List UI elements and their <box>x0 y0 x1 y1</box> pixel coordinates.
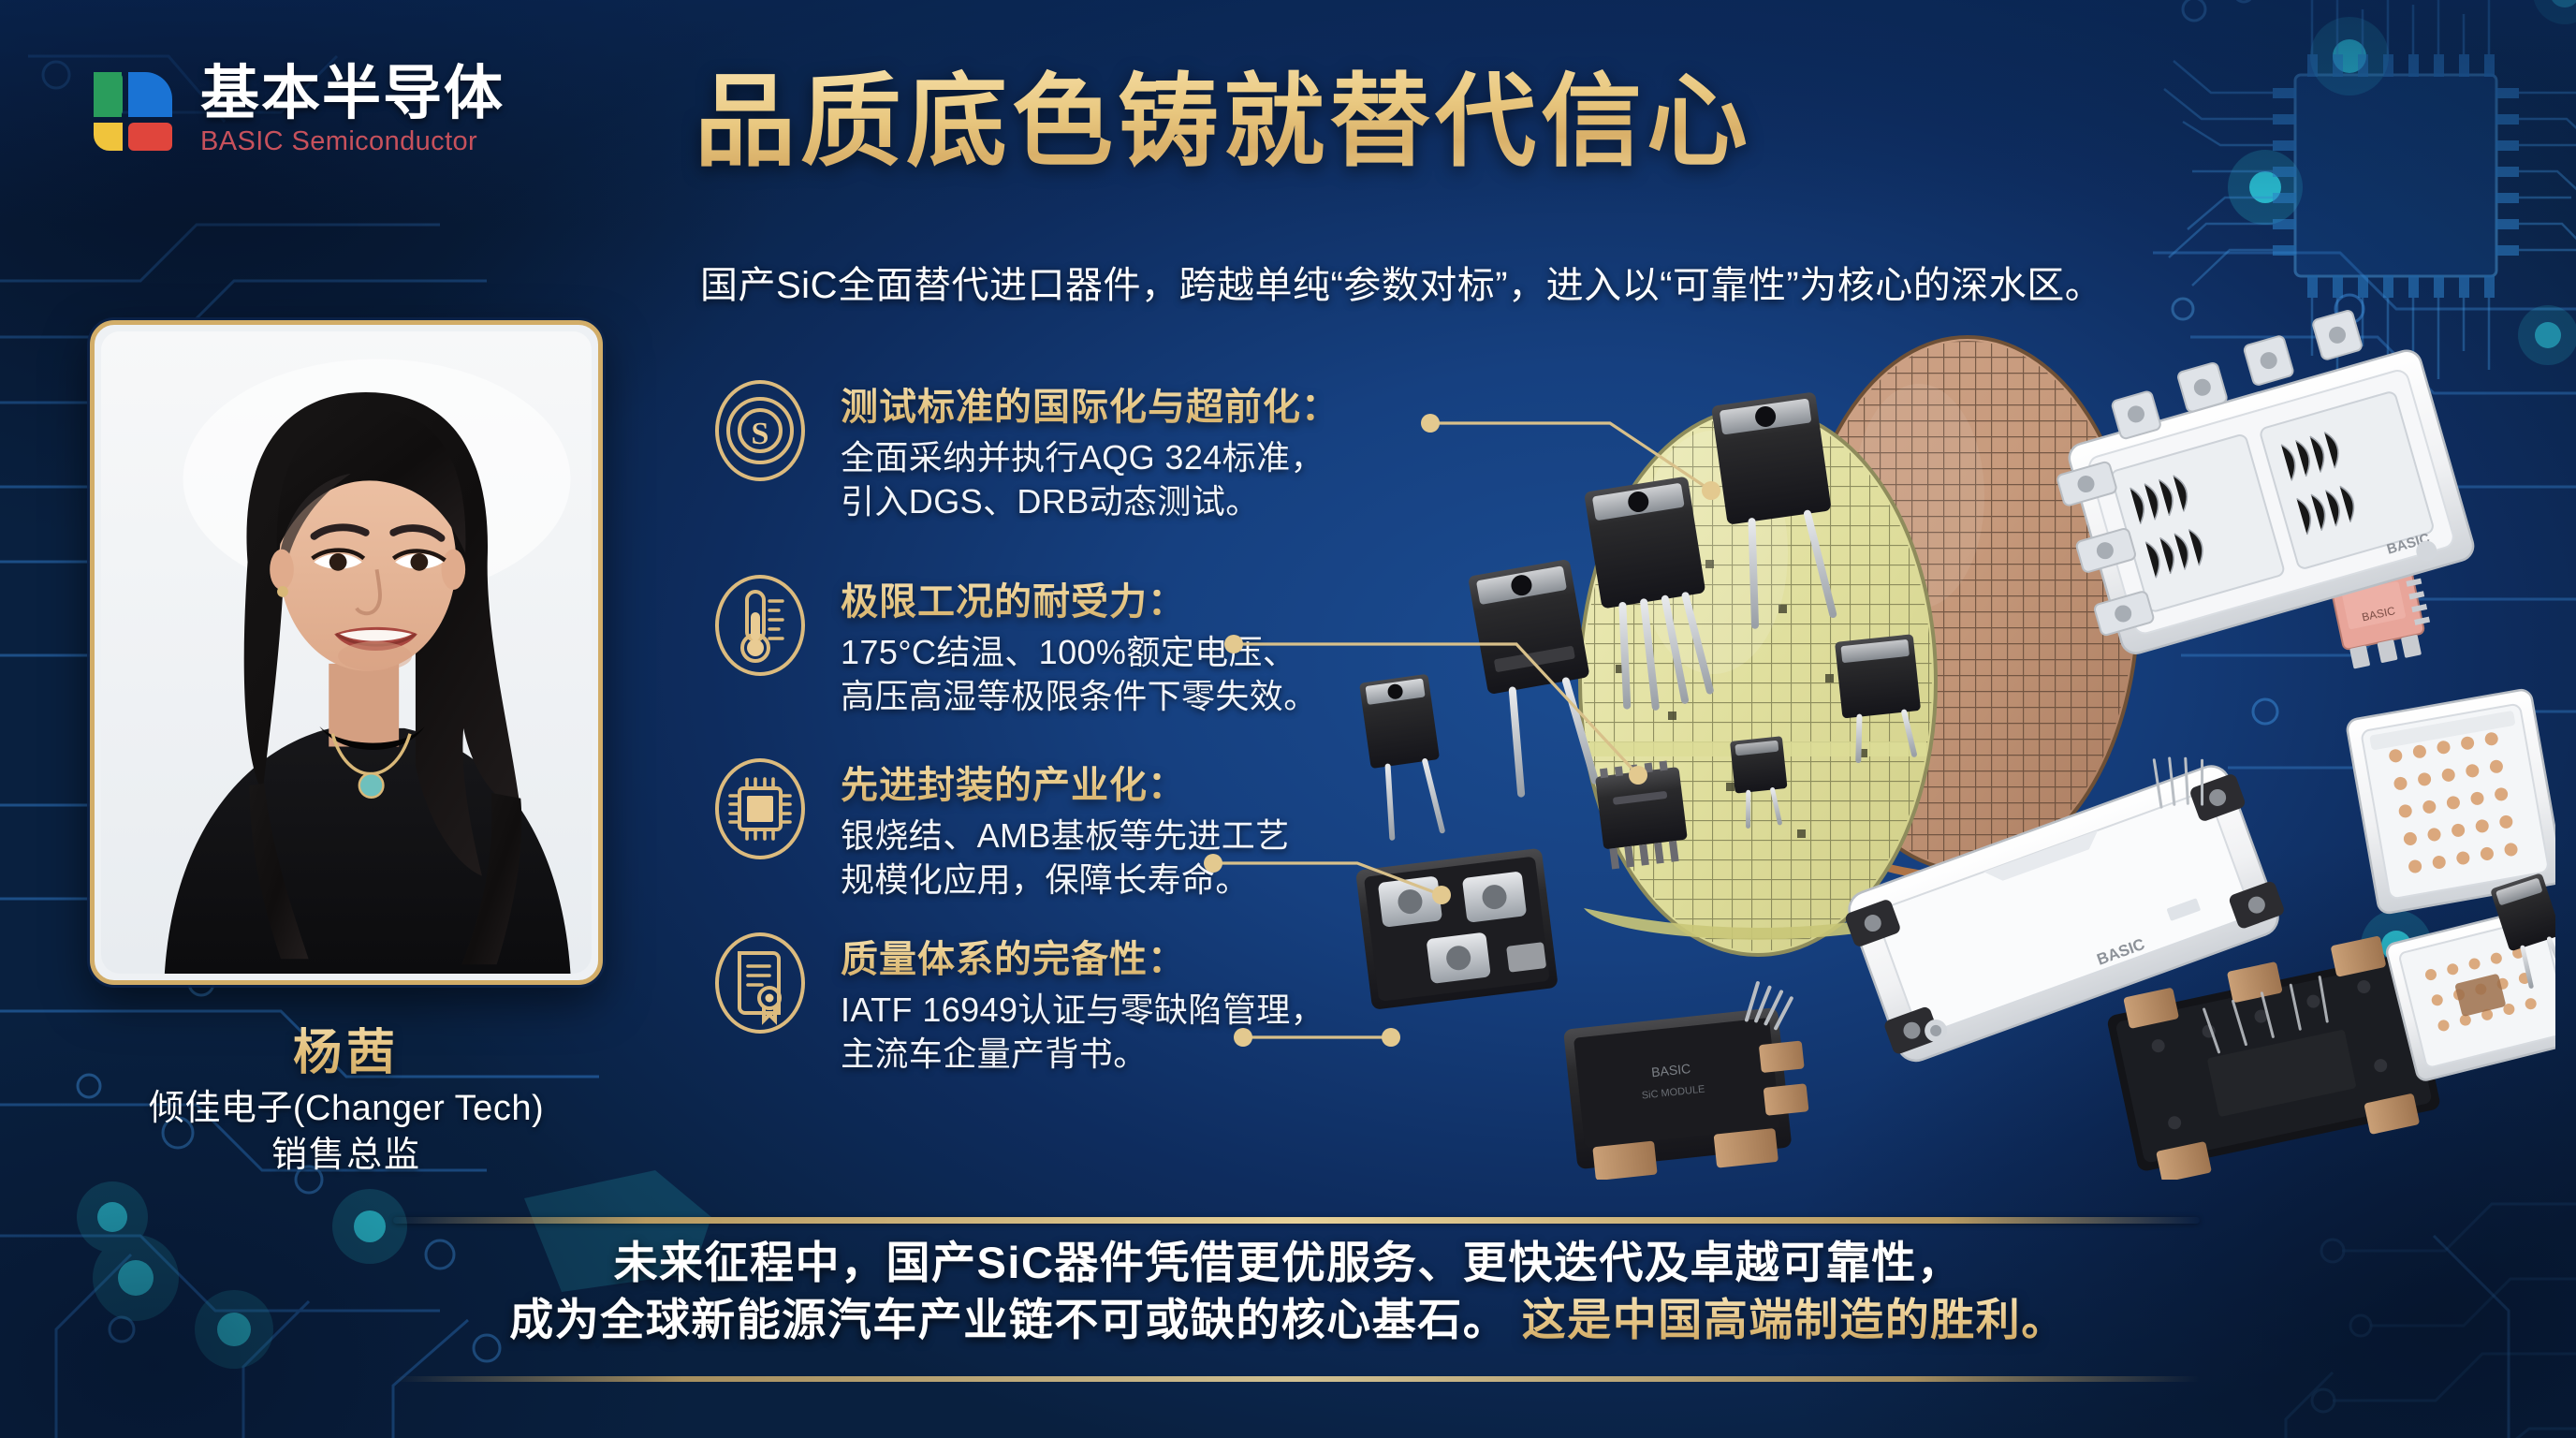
footer-line-2-gold: 这是中国高端制造的胜利。 <box>1522 1295 2067 1344</box>
key-point-title: 极限工况的耐受力： <box>841 571 1318 625</box>
key-point-item: 先进封装的产业化： 银烧结、AMB基板等先进工艺 规模化应用，保障长寿命。 <box>711 753 1290 902</box>
key-point-item: S 测试标准的国际化与超前化： 全面采纳并执行AQG 324标准， 引入DGS、… <box>711 374 1339 524</box>
tssop-package <box>1594 759 1690 870</box>
footer-line-1: 未来征程中，国产SiC器件凭借更优服务、更快迭代及卓越可靠性， <box>0 1234 2576 1291</box>
chip-icon <box>711 756 809 861</box>
footer-divider-top <box>393 1217 2200 1224</box>
logo-english-name: BASIC Semiconductor <box>200 127 505 157</box>
key-point-line: 175°C结温、100%额定电压、 <box>841 631 1318 675</box>
certificate-icon <box>711 931 809 1035</box>
svg-text:S: S <box>752 417 769 451</box>
key-point-title: 测试标准的国际化与超前化： <box>841 376 1339 431</box>
key-point-title: 先进封装的产业化： <box>841 755 1290 809</box>
key-point-line: 全面采纳并执行AQG 324标准， <box>841 436 1339 480</box>
page-title: 品质底色铸就替代信心 <box>695 67 2286 177</box>
key-point-line: 规模化应用，保障长寿命。 <box>841 858 1290 902</box>
key-point-line: 银烧结、AMB基板等先进工艺 <box>841 814 1290 858</box>
speaker-portrait-photo <box>101 331 592 974</box>
product-showcase: BASIC <box>1339 309 2555 1180</box>
page-subtitle: 国产SiC全面替代进口器件，跨越单纯“参数对标”，进入以“可靠性”为核心的深水区… <box>700 255 2479 309</box>
to-220-package <box>1359 674 1450 844</box>
footer-line-2: 成为全球新能源汽车产业链不可或缺的核心基石。 这是中国高端制造的胜利。 <box>0 1291 2576 1348</box>
key-point-line: 主流车企量产背书。 <box>841 1033 1325 1077</box>
key-point-line: IATF 16949认证与零缺陷管理， <box>841 989 1325 1033</box>
key-point-item: 质量体系的完备性： IATF 16949认证与零缺陷管理， 主流车企量产背书。 <box>711 927 1325 1077</box>
key-point-item: 极限工况的耐受力： 175°C结温、100%额定电压、 高压高湿等极限条件下零失… <box>711 569 1318 719</box>
footer-line-2-white: 成为全球新能源汽车产业链不可或缺的核心基石。 <box>509 1295 1508 1344</box>
footer-statement: 未来征程中，国产SiC器件凭借更优服务、更快迭代及卓越可靠性， 成为全球新能源汽… <box>0 1234 2576 1348</box>
speaker-org: 倾佳电子(Changer Tech) <box>62 1078 631 1130</box>
thermometer-icon <box>711 573 809 678</box>
poster-canvas: 基本半导体 BASIC Semiconductor 品质底色铸就替代信心 国产S… <box>0 0 2576 1438</box>
key-point-line: 高压高湿等极限条件下零失效。 <box>841 675 1318 719</box>
speaker-name: 杨茜 <box>90 1013 603 1083</box>
power-module-black-brick: BASIC SiC MODULE <box>1560 979 1814 1180</box>
four-square-logo-mark-icon <box>90 65 176 156</box>
speaker-role: 销售总监 <box>90 1125 603 1177</box>
speaker-photo-frame <box>90 320 603 985</box>
key-point-title: 质量体系的完备性： <box>841 929 1325 983</box>
brand-logo: 基本半导体 BASIC Semiconductor <box>90 64 505 156</box>
logo-chinese-name: 基本半导体 <box>200 64 505 125</box>
footer-divider-bottom <box>393 1376 2200 1382</box>
product-collage: BASIC <box>1339 309 2555 1180</box>
standard-s-circle-icon: S <box>711 378 809 483</box>
press-pack-module <box>1355 848 1559 1010</box>
key-point-line: 引入DGS、DRB动态测试。 <box>841 480 1339 524</box>
